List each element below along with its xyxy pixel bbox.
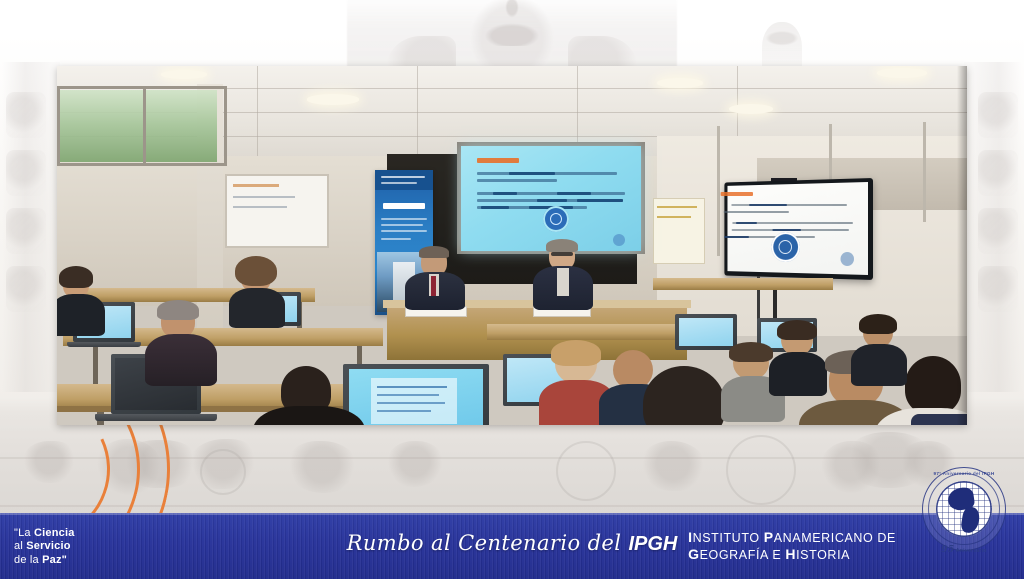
relief-carving bbox=[286, 441, 358, 493]
banner-header-line bbox=[381, 176, 425, 178]
org-initial-g: G bbox=[688, 546, 700, 562]
banner-body-line bbox=[381, 218, 427, 220]
un-emblem-inner bbox=[550, 213, 562, 225]
motto-bold-servicio: Servicio bbox=[26, 540, 70, 552]
banner-headline bbox=[383, 203, 425, 209]
whiteboard-mark bbox=[233, 184, 279, 187]
org-text-2: ANAMERICANO DE bbox=[774, 531, 896, 545]
ceiling-light bbox=[877, 68, 927, 78]
whiteboard-mark bbox=[233, 196, 295, 198]
organization-line-1: INSTITUTO PANAMERICANO DE bbox=[688, 529, 896, 546]
attendee-body bbox=[851, 344, 907, 386]
ceiling-light bbox=[161, 70, 207, 79]
stone-glyph bbox=[978, 150, 1018, 196]
stone-glyph bbox=[978, 92, 1018, 138]
slide-body-bold bbox=[493, 192, 517, 195]
stone-glyph bbox=[978, 208, 1018, 254]
attendee-hair bbox=[729, 342, 773, 362]
motto-bold-paz: Paz" bbox=[42, 554, 67, 566]
slide-body-bold bbox=[537, 199, 567, 202]
audience-desk bbox=[653, 278, 833, 290]
slide-body-bold bbox=[557, 192, 591, 195]
ceiling-light bbox=[657, 78, 703, 88]
tv-slide-bold bbox=[736, 222, 757, 224]
slide-corner-logo bbox=[613, 234, 625, 246]
org-initial-p: P bbox=[764, 529, 774, 545]
un-emblem-inner bbox=[779, 240, 792, 254]
stone-glyph bbox=[6, 208, 46, 254]
seal-anniversary-number: 95 bbox=[941, 545, 954, 555]
seal-south-america bbox=[960, 506, 981, 534]
stone-glyph bbox=[6, 150, 46, 196]
relief-carving-ring bbox=[200, 449, 246, 495]
speaker-hair bbox=[419, 246, 449, 258]
attendee-body bbox=[769, 352, 827, 396]
whiteboard-mark bbox=[233, 206, 287, 208]
attendee-body bbox=[229, 288, 285, 328]
slide-body-bold bbox=[577, 199, 623, 202]
motto-line-1: "La Ciencia bbox=[14, 527, 75, 541]
photo-window-frame bbox=[57, 86, 227, 166]
flipchart-mark bbox=[657, 206, 697, 208]
banner-header-line bbox=[381, 182, 417, 184]
stone-glyph bbox=[6, 92, 46, 138]
attendee-hair bbox=[859, 314, 897, 334]
tagline-script: Rumbo al Centenario del bbox=[347, 531, 629, 555]
laptop-doc-line bbox=[377, 386, 447, 388]
attendee-hair bbox=[59, 266, 93, 288]
seal-anniversary-label: Aniversario bbox=[956, 548, 987, 554]
tv-slide-corner-logo bbox=[841, 252, 854, 266]
tagline-ipgh: IPGH bbox=[628, 533, 677, 555]
motto-text-1: "La bbox=[14, 527, 34, 539]
footer-band: Rumbo al Centenario del IPGH INSTITUTO P… bbox=[0, 513, 1024, 579]
banner-body-line bbox=[381, 230, 427, 232]
laptop-screen bbox=[679, 318, 733, 346]
laptop-document bbox=[371, 378, 457, 424]
speaker-glasses bbox=[551, 252, 573, 256]
tv-slide-bold bbox=[749, 204, 787, 206]
seminar-photo bbox=[57, 66, 967, 425]
seal-anniversary-bottom: 95 Aniversario bbox=[916, 545, 1012, 555]
org-text-1: NSTITUTO bbox=[693, 531, 764, 545]
footer-top-edge bbox=[0, 513, 1024, 515]
ceiling-grid-line bbox=[257, 66, 258, 164]
laptop-base bbox=[67, 342, 141, 347]
attendee-head bbox=[905, 356, 961, 414]
banner-body-line bbox=[381, 224, 423, 226]
ceiling-grid-line bbox=[417, 66, 418, 164]
speaker-tie bbox=[431, 276, 436, 296]
ceiling-light bbox=[307, 94, 359, 105]
attendee-body bbox=[145, 334, 217, 386]
attendee-head-front bbox=[643, 366, 725, 425]
slide-body-bold bbox=[481, 206, 509, 209]
motto-line-3: de la Paz" bbox=[14, 554, 75, 568]
slide-title-text bbox=[477, 158, 519, 163]
slide-body-bold bbox=[509, 172, 555, 175]
relief-carving-ring bbox=[726, 435, 796, 505]
attendee-hair bbox=[777, 320, 817, 340]
attendee-hair bbox=[235, 256, 277, 286]
slide-body-line bbox=[477, 179, 557, 182]
organization-name: INSTITUTO PANAMERICANO DE GEOGRAFÍA E HI… bbox=[688, 529, 896, 563]
motto-text-2: al bbox=[14, 540, 26, 552]
stone-urn-finial bbox=[473, 0, 551, 46]
ceiling-light bbox=[729, 104, 773, 114]
tv-slide-line bbox=[724, 211, 789, 213]
peace-motto: "La Ciencia al Servicio de la Paz" bbox=[14, 527, 75, 568]
motto-text-3: de la bbox=[14, 554, 42, 566]
attendee-hair bbox=[551, 340, 601, 366]
photo-window-mullion bbox=[143, 86, 146, 166]
stone-glyph bbox=[6, 266, 46, 312]
tv-slide-bold bbox=[724, 236, 749, 238]
glass-post bbox=[923, 122, 926, 222]
photo-edge-shadow bbox=[957, 66, 967, 425]
org-text-3: EOGRAFÍA E bbox=[700, 548, 786, 562]
glass-post bbox=[717, 126, 720, 256]
laptop-doc-line bbox=[377, 394, 439, 396]
speaker-hair bbox=[546, 239, 578, 252]
attendee-body bbox=[57, 294, 105, 336]
banner-body-line bbox=[381, 238, 411, 240]
motto-line-2: al Servicio bbox=[14, 540, 75, 554]
laptop-base bbox=[95, 414, 217, 421]
flipchart-mark bbox=[657, 216, 691, 218]
org-initial-h: H bbox=[785, 546, 796, 562]
tv-slide-bold bbox=[772, 229, 801, 231]
ipgh-seal: 97° Aniversario del IPGH 95 Aniversario bbox=[916, 461, 1012, 557]
stone-glyph bbox=[978, 266, 1018, 312]
laptop-doc-line bbox=[377, 410, 431, 412]
relief-carving bbox=[640, 441, 706, 491]
seal-globe-icon bbox=[936, 481, 992, 537]
laptop-doc-line bbox=[377, 402, 445, 404]
motto-bold-ciencia: Ciencia bbox=[34, 527, 75, 539]
relief-carving-ring bbox=[556, 441, 616, 501]
attendee-hair bbox=[157, 300, 199, 320]
tv-slide-title bbox=[721, 192, 753, 196]
organization-line-2: GEOGRAFÍA E HISTORIA bbox=[688, 546, 896, 563]
org-text-4: ISTORIA bbox=[796, 548, 850, 562]
speaker-shirt bbox=[557, 268, 569, 296]
rollup-banner-header bbox=[375, 170, 433, 190]
